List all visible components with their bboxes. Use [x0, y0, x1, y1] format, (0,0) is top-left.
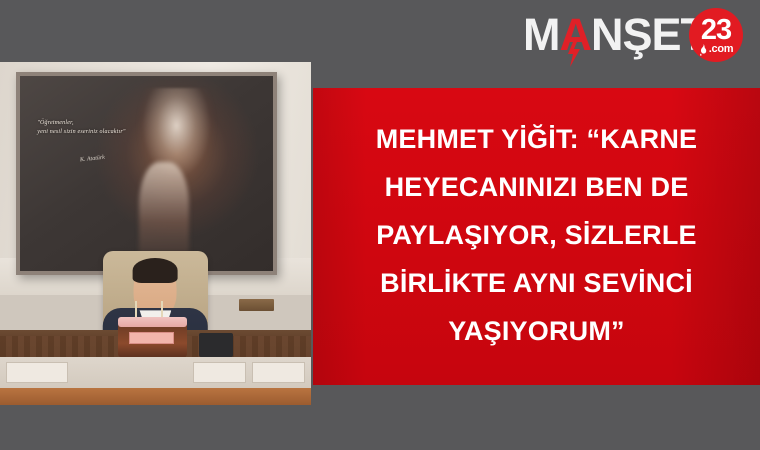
news-photo: "Öğretmenler, yeni nesil sizin eseriniz … [0, 62, 311, 405]
poster-signature: K. Atatürk [80, 155, 105, 164]
desk-book [239, 299, 273, 311]
logo-badge-tld: .com [709, 44, 733, 55]
headline-line-4: BİRLİKTE AYNI SEVİNCİ [380, 259, 693, 307]
photo-scene: "Öğretmenler, yeni nesil sizin eseriniz … [0, 62, 311, 405]
celebration-cake [118, 323, 186, 357]
poster-quote: "Öğretmenler, yeni nesil sizin eseriniz … [37, 119, 125, 137]
logo-wordmark: MANŞET [523, 11, 707, 59]
logo-badge-number: 23 [701, 17, 731, 43]
framed-poster: "Öğretmenler, yeni nesil sizin eseriniz … [16, 72, 277, 274]
desk-phone [199, 333, 233, 357]
logo-text-part1: M [523, 11, 560, 59]
headline-line-3: PAYLAŞIYOR, SİZLERLE [376, 211, 697, 259]
site-logo[interactable]: MANŞET 23 .com [523, 6, 751, 64]
poster-quote-line-2: yeni nesil sizin eseriniz olacaktır" [37, 128, 125, 137]
headline-line-2: HEYECANINIZI BEN DE [385, 163, 689, 211]
news-banner: MANŞET 23 .com "Öğretmenle [0, 0, 760, 450]
desk-panel [6, 362, 68, 383]
desk-nameplate [129, 332, 174, 344]
logo-letter-a-red: A [560, 11, 592, 59]
logo-badge-23[interactable]: 23 .com [689, 8, 743, 62]
logo-badge-tld-row: .com [699, 44, 733, 56]
desk-edge [0, 388, 311, 405]
poster-quote-line-1: "Öğretmenler, [37, 119, 125, 128]
cake-top [118, 317, 186, 327]
person-hair [133, 258, 178, 283]
poster-image: "Öğretmenler, yeni nesil sizin eseriniz … [20, 76, 273, 270]
flame-icon [699, 44, 708, 56]
headline-panel: MEHMET YİĞİT: “KARNE HEYECANINIZI BEN DE… [313, 88, 760, 385]
desk-panel [193, 362, 246, 383]
headline-line-5: YAŞIYORUM” [448, 307, 625, 355]
desk-panel [252, 362, 305, 383]
headline-line-1: MEHMET YİĞİT: “KARNE [376, 115, 698, 163]
